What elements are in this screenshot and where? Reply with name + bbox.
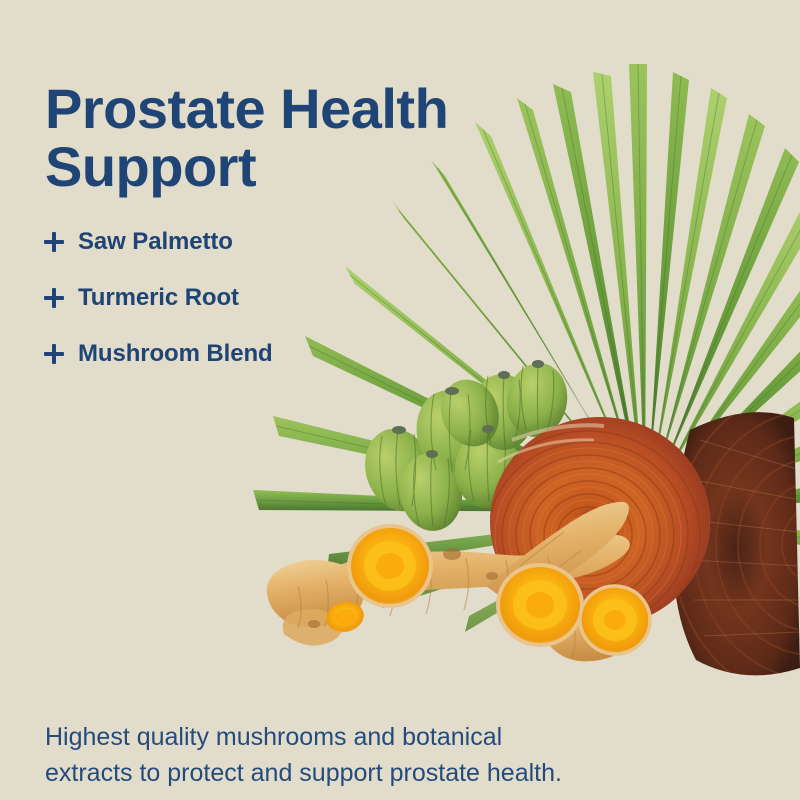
feature-list: Saw Palmetto Turmeric Root Mushroom Blen… [38, 214, 368, 382]
feature-label: Mushroom Blend [78, 340, 273, 368]
list-item: Mushroom Blend [38, 326, 368, 382]
plus-icon [38, 226, 70, 258]
promo-card: Prostate Health Support Saw Palmetto Tur… [0, 0, 800, 800]
caption-text: Highest quality mushrooms and botanical … [45, 720, 685, 791]
list-item: Turmeric Root [38, 270, 368, 326]
reishi-mushroom-back [672, 387, 800, 703]
reishi-mushroom-front [476, 417, 710, 639]
list-item: Saw Palmetto [38, 214, 368, 270]
feature-label: Turmeric Root [78, 284, 239, 312]
saw-palmetto-berries [355, 358, 573, 535]
plus-icon [38, 338, 70, 370]
turmeric-root [267, 502, 655, 662]
turmeric-cut-face [323, 522, 654, 659]
plus-icon [38, 282, 70, 314]
page-title: Prostate Health Support [45, 80, 585, 196]
feature-label: Saw Palmetto [78, 228, 233, 256]
